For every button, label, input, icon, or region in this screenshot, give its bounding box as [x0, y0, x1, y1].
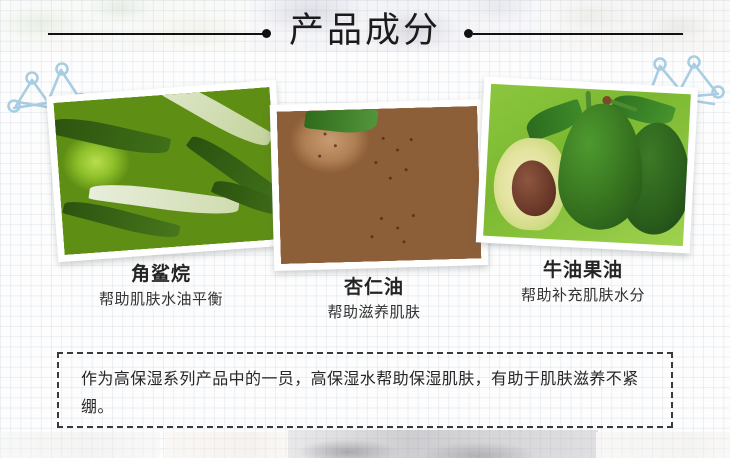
ingredient-desc: 帮助肌肤水油平衡	[46, 288, 276, 311]
ingredient-name: 牛油果油	[470, 258, 696, 284]
background-photo-band-bottom	[0, 430, 730, 458]
description-text: 作为高保湿系列产品中的一员，高保湿水帮助保湿肌肤，有助于肌肤滋养不紧绷。	[81, 366, 655, 422]
ingredient-caption-almond: 杏仁油 帮助滋养肌肤	[268, 275, 480, 324]
almonds-photo	[277, 106, 481, 264]
ingredient-caption-avocado: 牛油果油 帮助补充肌肤水分	[470, 258, 696, 307]
ingredient-name: 角鲨烷	[46, 262, 276, 288]
ingredient-desc: 帮助补充肌肤水分	[470, 284, 696, 307]
avocado-photo	[483, 84, 691, 246]
product-ingredients-page: 产品成分	[0, 0, 730, 458]
ingredient-name: 杏仁油	[268, 275, 480, 301]
description-box: 作为高保湿系列产品中的一员，高保湿水帮助保湿肌肤，有助于肌肤滋养不紧绷。	[57, 352, 673, 428]
ingredient-photo-card-avocado[interactable]	[476, 77, 698, 254]
ingredient-desc: 帮助滋养肌肤	[268, 301, 480, 324]
ingredient-photo-card-almond[interactable]	[270, 99, 489, 271]
ingredient-caption-olive: 角鲨烷 帮助肌肤水油平衡	[46, 262, 276, 311]
ingredient-photo-card-olive[interactable]	[46, 80, 288, 262]
green-olives-photo	[54, 87, 281, 254]
